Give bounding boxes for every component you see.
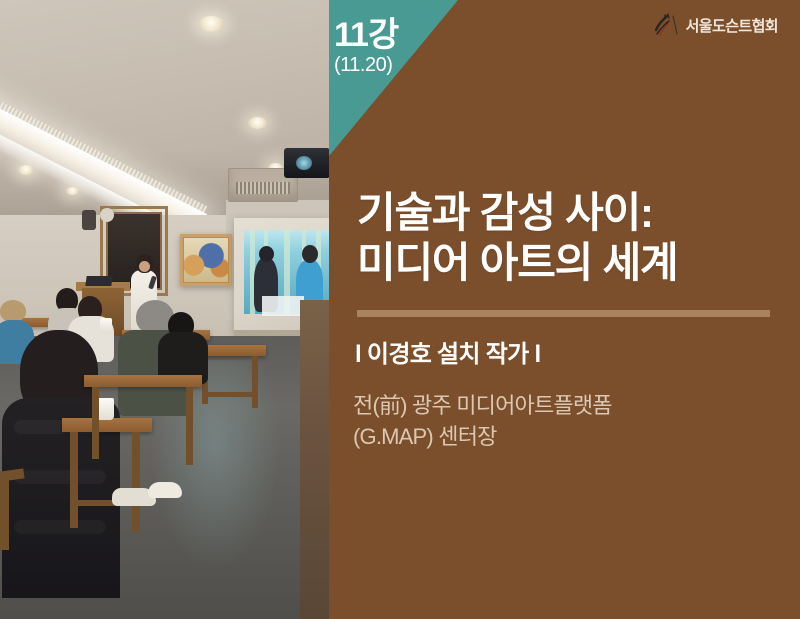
desk-leg [132, 432, 140, 532]
desk-leg [92, 387, 99, 459]
speaker-affiliation: 전(前) 광주 미디어아트플랫폼 (G.MAP) 센터장 [353, 390, 612, 452]
downlight [18, 165, 34, 175]
lecture-photo [0, 0, 329, 619]
title-line-2: 미디어 아트의 세계 [357, 238, 677, 288]
puffer-seam [14, 520, 106, 534]
puffer-seam [14, 470, 106, 484]
affiliation-line-2: (G.MAP) 센터장 [353, 421, 612, 452]
wall-speaker [82, 210, 96, 230]
divider [357, 310, 770, 317]
desk-rail [204, 392, 256, 397]
right-wall-lower [300, 300, 329, 619]
lecture-number: 11강 [334, 18, 430, 52]
paper-cup [100, 318, 112, 333]
desk-leg [252, 356, 258, 408]
projected-caption [262, 296, 304, 316]
downlight [198, 16, 224, 32]
laptop [85, 276, 112, 286]
chair-leg [0, 480, 9, 550]
speaker-name: l 이경호 설치 작가 l [355, 340, 540, 370]
shoe [148, 482, 182, 498]
lecture-number-badge: 11강 (11.20) [334, 18, 430, 75]
presenter-face [139, 261, 150, 272]
desk [84, 375, 202, 387]
downlight [248, 117, 267, 129]
page-title: 기술과 감성 사이: 미디어 아트의 세계 [357, 188, 677, 287]
painting-artwork [184, 238, 228, 282]
organization-name: 서울도슨트협회 [686, 15, 778, 36]
lecture-poster-card: 11강 (11.20) 서울도슨트협회 기술과 감성 사이: 미디어 아트의 세… [0, 0, 800, 619]
wall-clock [100, 208, 114, 222]
affiliation-line-1: 전(前) 광주 미디어아트플랫폼 [353, 390, 612, 421]
title-line-1: 기술과 감성 사이: [357, 188, 677, 238]
organization-logo: 서울도슨트협회 [653, 10, 778, 40]
desk-leg [186, 387, 193, 465]
downlight [66, 187, 79, 195]
lecture-date: (11.20) [334, 55, 430, 75]
projector-lens [296, 156, 312, 170]
desk-front [62, 418, 152, 432]
desk-leg [70, 432, 78, 528]
vent-grill [236, 182, 290, 194]
brush-stroke-icon [653, 10, 679, 40]
audience-head [0, 300, 26, 322]
